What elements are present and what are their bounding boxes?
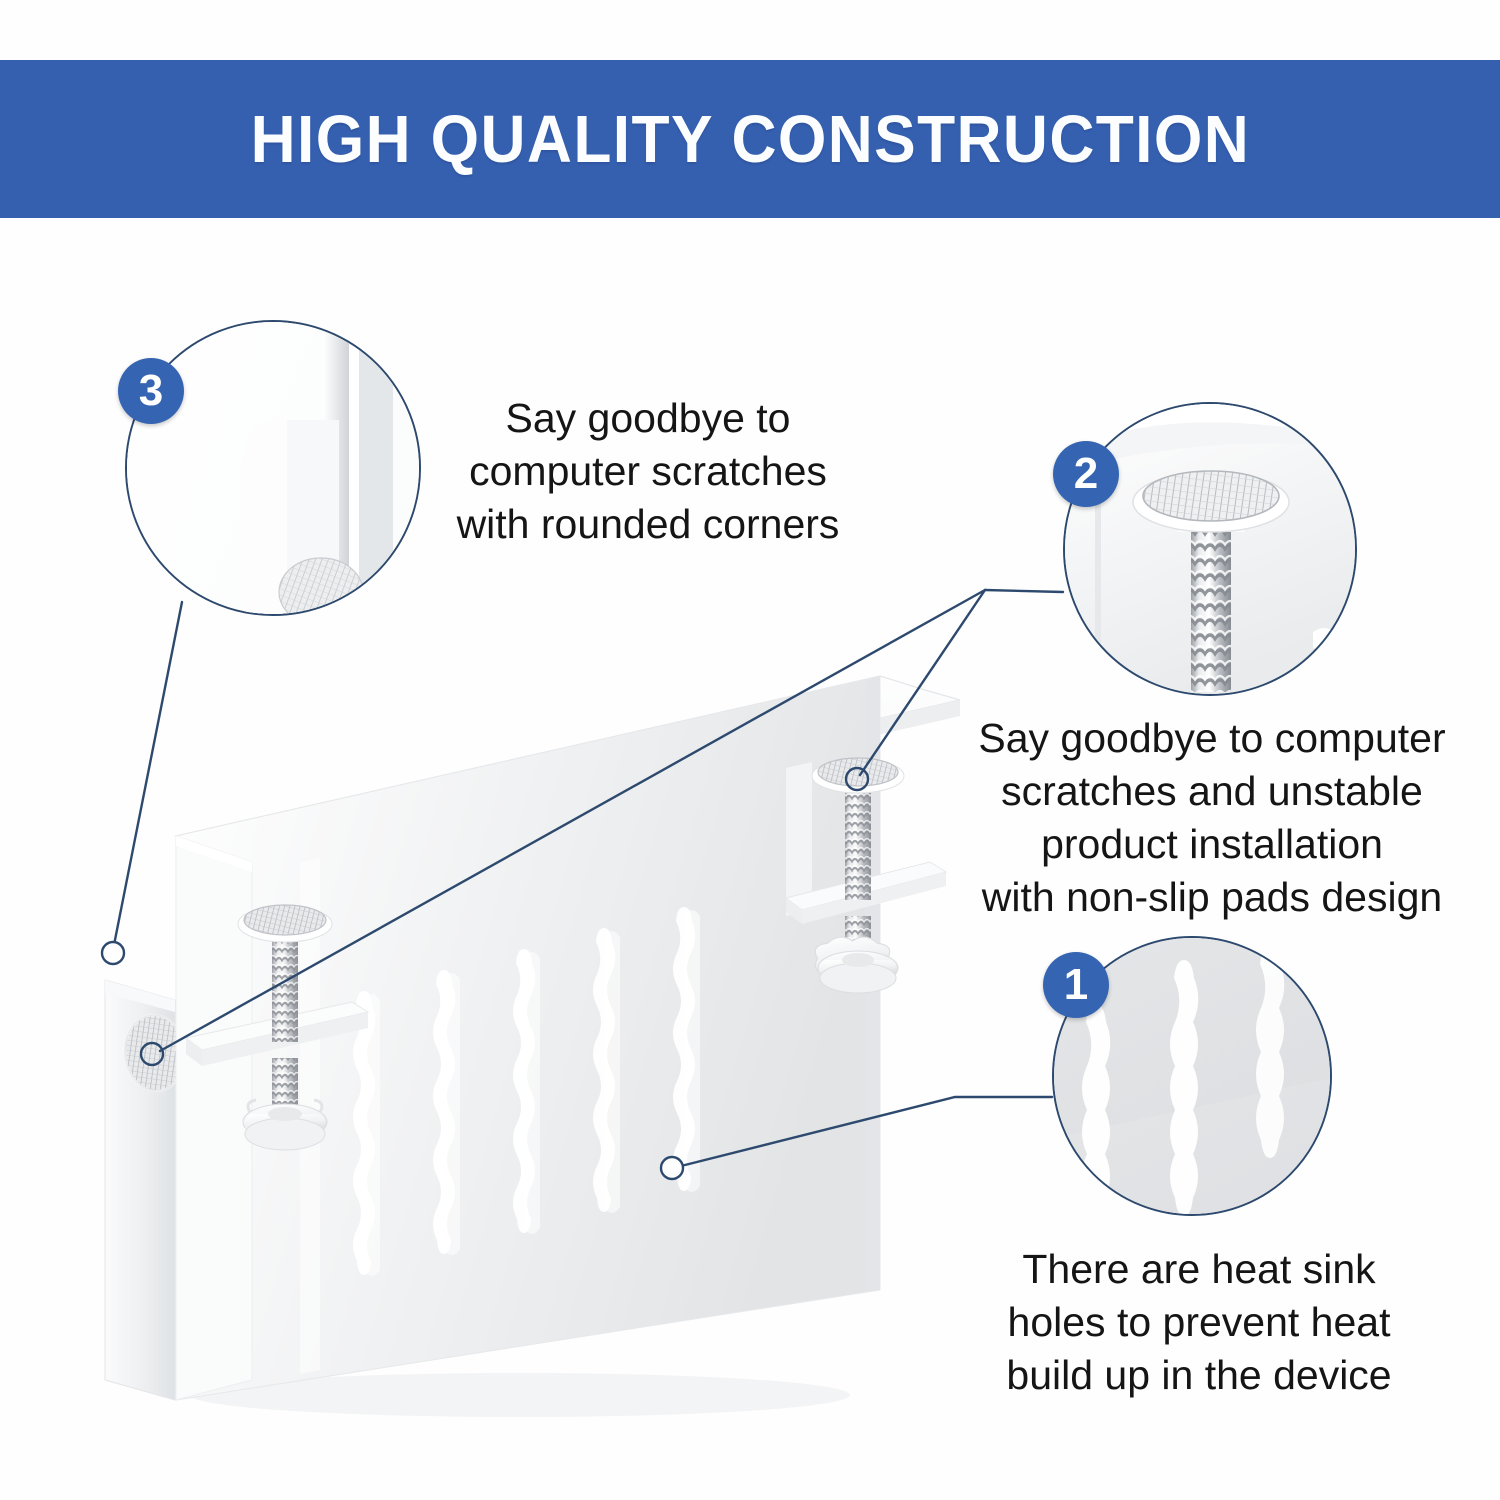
callout-1-badge: 1 [1043, 952, 1109, 1018]
product-illustration [0, 0, 1500, 1500]
infographic-canvas: HIGH QUALITY CONSTRUCTION [0, 0, 1500, 1500]
callout-3-badge: 3 [118, 358, 184, 424]
callout-2-badge: 2 [1053, 441, 1119, 507]
